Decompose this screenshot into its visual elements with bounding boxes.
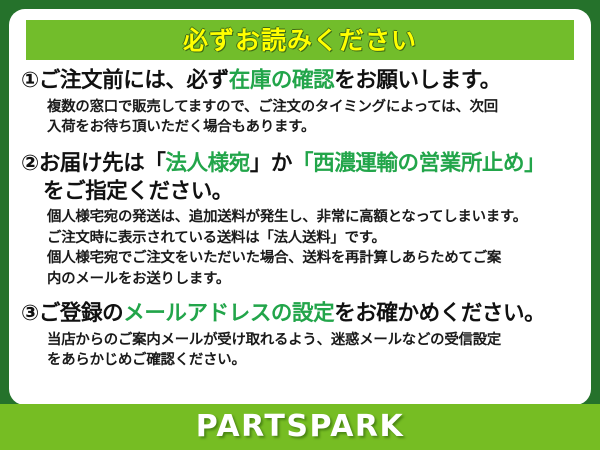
notice-item-1-heading-part-3: をお願いします。 (334, 68, 501, 93)
notice-item-1-body-line-1: 複数の窓口で販売してますので、ご注文のタイミングによっては、次回 (47, 97, 581, 117)
notice-item-1-body-line-2: 入荷をお待ち頂いただく場合もあります。 (47, 117, 581, 137)
notice-item-3-heading: ③ご登録のメールアドレスの設定をお確かめください。 (21, 300, 581, 328)
notice-item-2-heading-accent-1: 法人様宛 (165, 151, 249, 176)
notice-item-1-number: ① (21, 68, 39, 93)
notice-list: ①ご注文前には、必ず在庫の確認をお願いします。 複数の窓口で販売してますので、ご… (9, 67, 591, 371)
notice-item-2-body: 個人様宅宛の発送は、追加送料が発生し、非常に高額となってしまいます。 ご注文時に… (21, 207, 581, 289)
footer-banner: PARTSPARK (0, 404, 600, 450)
notice-item-1-body: 複数の窓口で販売してますので、ご注文のタイミングによっては、次回 入荷をお待ち頂… (21, 97, 581, 138)
notice-item-1: ①ご注文前には、必ず在庫の確認をお願いします。 複数の窓口で販売してますので、ご… (21, 67, 581, 137)
notice-panel: 必ずお読みください ①ご注文前には、必ず在庫の確認をお願いします。 複数の窓口で… (9, 9, 591, 405)
notice-item-3-body: 当店からのご案内メールが受け取れるよう、迷惑メールなどの受信設定 をあらかじめご… (21, 330, 581, 371)
notice-item-1-heading: ①ご注文前には、必ず在庫の確認をお願いします。 (21, 67, 581, 95)
notice-item-2-body-line-1: 個人様宅宛の発送は、追加送料が発生し、非常に高額となってしまいます。 (47, 207, 581, 227)
notice-item-2-body-line-4: 内のメールをお送りします。 (47, 269, 581, 289)
notice-item-2-body-line-3: 個人様宅宛でご注文をいただいた場合、送料を再計算しあらためてご案 (47, 248, 581, 268)
notice-item-1-heading-accent: 在庫の確認 (229, 68, 335, 93)
notice-card: 必ずお読みください ①ご注文前には、必ず在庫の確認をお願いします。 複数の窓口で… (0, 0, 600, 450)
notice-item-3-number: ③ (21, 301, 39, 326)
notice-item-2-heading-part-1: お届け先は「 (39, 151, 166, 176)
notice-item-3-heading-part-1: ご登録の (39, 301, 123, 326)
notice-item-3-heading-part-3: をお確かめください。 (334, 301, 545, 326)
notice-item-2-heading-accent-2: 「西濃運輸の営業所止め」 (292, 151, 545, 176)
notice-item-2-number: ② (21, 151, 39, 176)
notice-item-2-heading: ②お届け先は「法人様宛」か「西濃運輸の営業所止め」 をご指定ください。 (21, 150, 581, 205)
header-banner: 必ずお読みください (26, 20, 574, 60)
notice-item-3-heading-accent: メールアドレスの設定 (123, 301, 334, 326)
notice-item-2-body-line-2: ご注文時に表示されている送料は「法人送料」です。 (47, 228, 581, 248)
notice-item-3-body-line-1: 当店からのご案内メールが受け取れるよう、迷惑メールなどの受信設定 (47, 330, 581, 350)
notice-item-3-body-line-2: をあらかじめご確認ください。 (47, 350, 581, 370)
notice-item-1-heading-part-1: ご注文前には、必ず (39, 68, 229, 93)
notice-item-2-heading-line-2: をご指定ください。 (21, 178, 581, 206)
notice-item-3: ③ご登録のメールアドレスの設定をお確かめください。 当店からのご案内メールが受け… (21, 300, 581, 370)
notice-item-2: ②お届け先は「法人様宛」か「西濃運輸の営業所止め」 をご指定ください。 個人様宅… (21, 150, 581, 289)
header-title: 必ずお読みください (183, 28, 417, 53)
brand-logo: PARTSPARK (196, 412, 405, 442)
notice-item-2-heading-part-3: 」か (250, 151, 292, 176)
